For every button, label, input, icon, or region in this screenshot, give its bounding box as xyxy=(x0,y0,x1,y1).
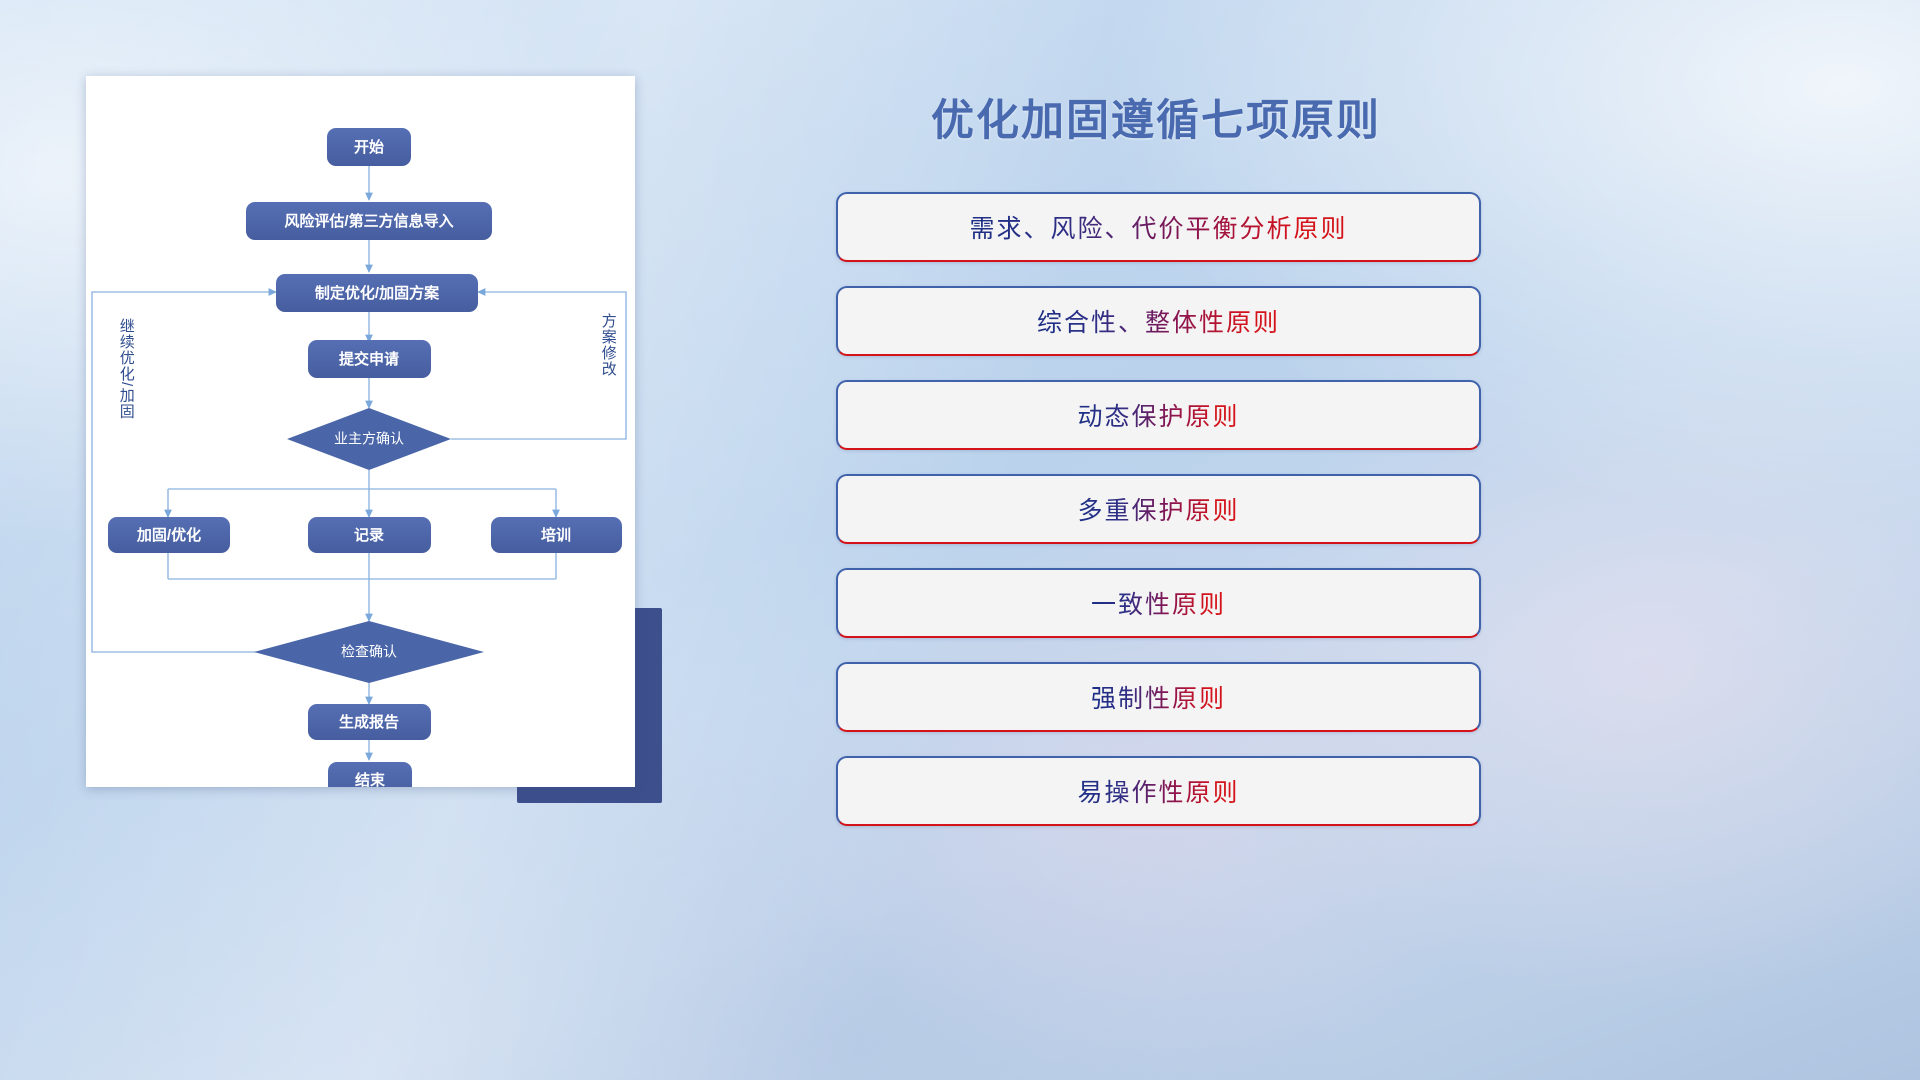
principle-card-7-label: 易操作性原则 xyxy=(1077,773,1239,809)
flow-node-training-label: 培训 xyxy=(541,526,571,544)
principle-card-6[interactable]: 强制性原则 xyxy=(836,662,1481,732)
flowchart-diagram: 开始 风险评估/第三方信息导入 制定优化/加固方案 提交申请 业主方确认 加固/… xyxy=(86,76,635,787)
principle-card-4-label: 多重保护原则 xyxy=(1077,491,1239,527)
principle-card-6-label: 强制性原则 xyxy=(1091,679,1226,715)
flow-node-risk-label: 风险评估/第三方信息导入 xyxy=(284,212,453,230)
flow-node-check-confirm-label: 检查确认 xyxy=(341,644,397,660)
page-title: 优化加固遵循七项原则 xyxy=(836,86,1476,148)
flow-node-record-label: 记录 xyxy=(354,527,384,544)
flow-side-label-right: 方案修改 xyxy=(600,313,616,377)
flow-node-end-label: 结束 xyxy=(355,771,386,787)
principle-card-2[interactable]: 综合性、整体性原则 xyxy=(836,286,1481,356)
principle-card-7[interactable]: 易操作性原则 xyxy=(836,756,1481,826)
flow-node-reinforce-label: 加固/优化 xyxy=(136,526,201,544)
principle-card-5[interactable]: 一致性原则 xyxy=(836,568,1481,638)
principle-card-4[interactable]: 多重保护原则 xyxy=(836,474,1481,544)
principle-card-3-label: 动态保护原则 xyxy=(1077,397,1239,433)
flow-side-label-left: 继续优化/加固 xyxy=(118,318,134,419)
principle-card-5-label: 一致性原则 xyxy=(1091,585,1226,621)
flow-node-owner-confirm-label: 业主方确认 xyxy=(334,431,404,447)
principle-card-3[interactable]: 动态保护原则 xyxy=(836,380,1481,450)
principles-card-list: 需求、风险、代价平衡分析原则 综合性、整体性原则 动态保护原则 多重保护原则 一… xyxy=(836,192,1481,850)
principle-card-1-label: 需求、风险、代价平衡分析原则 xyxy=(969,209,1347,245)
flowchart-card: 开始 风险评估/第三方信息导入 制定优化/加固方案 提交申请 业主方确认 加固/… xyxy=(86,76,635,787)
flow-node-plan-label: 制定优化/加固方案 xyxy=(315,284,440,302)
principles-panel: 优化加固遵循七项原则 需求、风险、代价平衡分析原则 综合性、整体性原则 动态保护… xyxy=(836,0,1920,1080)
principle-card-1[interactable]: 需求、风险、代价平衡分析原则 xyxy=(836,192,1481,262)
flow-node-submit-label: 提交申请 xyxy=(339,350,399,368)
flow-node-start-label: 开始 xyxy=(354,138,384,156)
flow-node-report-label: 生成报告 xyxy=(339,713,399,731)
principle-card-2-label: 综合性、整体性原则 xyxy=(1037,303,1280,339)
